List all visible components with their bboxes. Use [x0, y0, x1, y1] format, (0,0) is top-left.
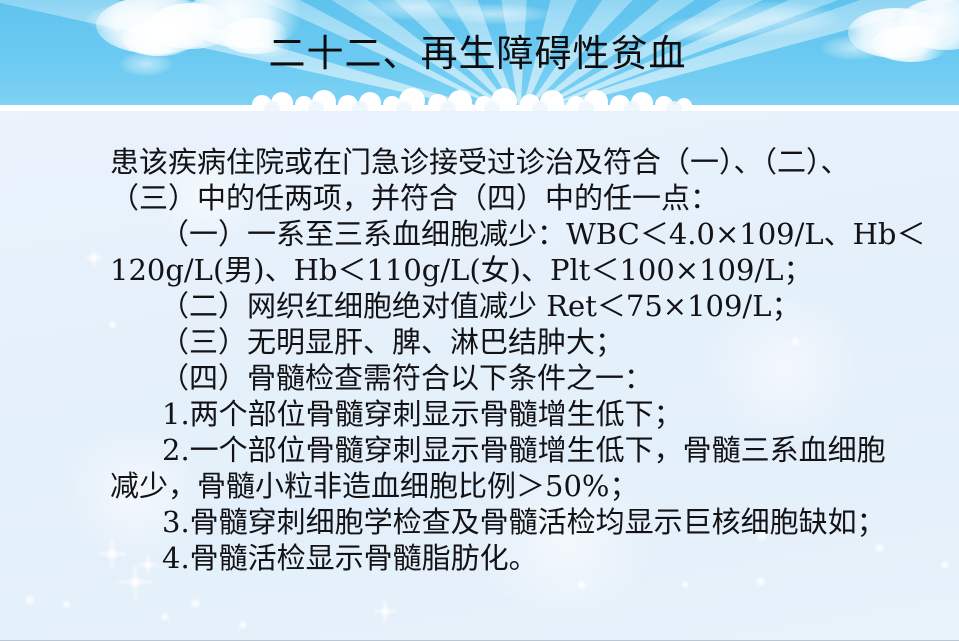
body-line: 1.两个部位骨髓穿刺显示骨髓增生低下；	[110, 396, 900, 432]
body-line: 患该疾病住院或在门急诊接受过诊治及符合（一）、（二）、	[110, 144, 900, 180]
page-title: 二十二、再生障碍性贫血	[269, 34, 687, 74]
body-line: 3.骨髓穿刺细胞学检查及骨髓活检均显示巨核细胞缺如；	[110, 504, 900, 540]
slide-title-container: 二十二、再生障碍性贫血	[0, 0, 959, 111]
body-line: 2.一个部位骨髓穿刺显示骨髓增生低下，骨髓三系血细胞	[110, 432, 900, 468]
sparkle-icon	[24, 594, 36, 606]
sparkle-icon	[374, 600, 396, 622]
body-line: 120g/L(男)、Hb＜110g/L(女)、Plt＜100×109/L；	[110, 252, 900, 288]
sparkle-icon	[86, 250, 102, 266]
sparkle-icon	[940, 560, 950, 570]
sparkle-icon	[160, 612, 170, 622]
sparkle-icon	[681, 580, 690, 589]
sparkle-icon	[88, 252, 99, 263]
sparkle-icon	[238, 620, 248, 630]
sparkle-icon	[62, 600, 71, 609]
body-line: （三）中的任两项，并符合（四）中的任一点：	[110, 180, 900, 216]
body-line: （四）骨髓检查需符合以下条件之一：	[110, 360, 900, 396]
sparkle-icon	[755, 576, 766, 587]
sparkle-icon	[190, 598, 201, 609]
body-line: 减少，骨髓小粒非造血细胞比例＞50%；	[110, 468, 900, 504]
sparkle-icon	[380, 606, 391, 617]
header-banner: 二十二、再生障碍性贫血	[0, 0, 959, 111]
body-line: 4.骨髓活检显示骨髓脂肪化。	[110, 540, 900, 576]
sparkle-icon	[576, 580, 587, 591]
slide-body-text: 患该疾病住院或在门急诊接受过诊治及符合（一）、（二）、 （三）中的任两项，并符合…	[110, 144, 900, 576]
body-line: （一）一系至三系血细胞减少：WBC＜4.0×109/L、Hb＜	[110, 216, 900, 252]
sparkle-icon	[128, 575, 142, 589]
body-line: （三）无明显肝、脾、淋巴结肿大；	[110, 324, 900, 360]
slide: 二十二、再生障碍性贫血 患该疾病住院或在门急诊接受过诊治及符合（一）、（二）、 …	[0, 0, 959, 641]
body-line: （二）网织红细胞绝对值减少 Ret＜75×109/L；	[110, 288, 900, 324]
